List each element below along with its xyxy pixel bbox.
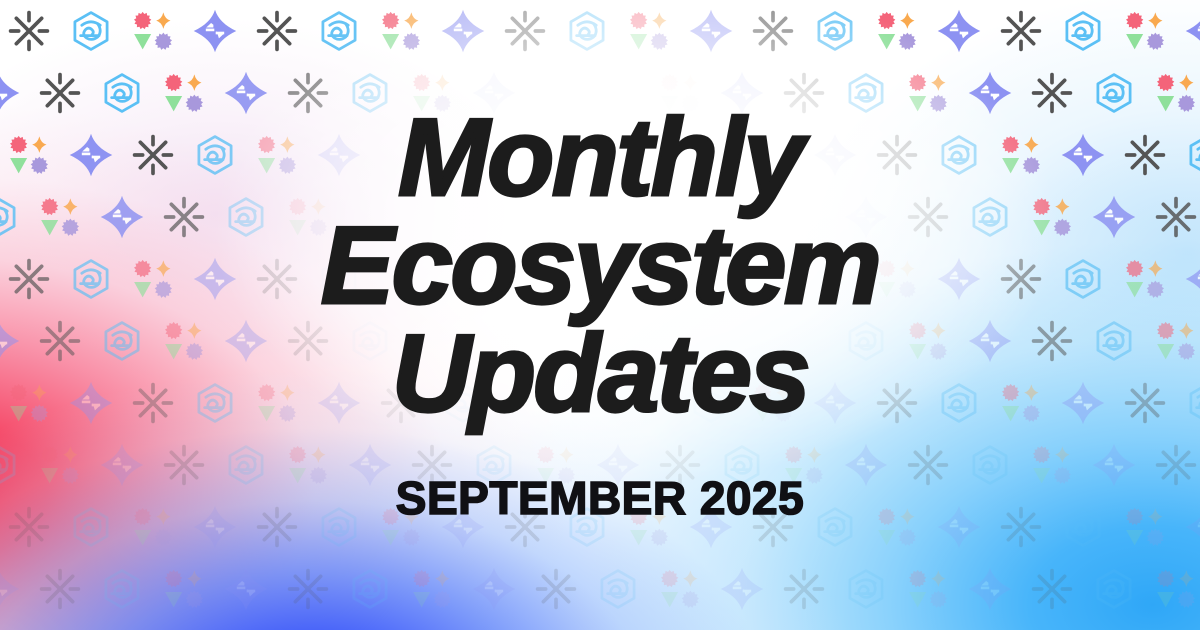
shape-cluster-icon (161, 566, 207, 612)
hexagon-spiral-icon (347, 318, 393, 364)
shape-cluster-icon (254, 380, 300, 426)
shape-cluster-icon (37, 194, 83, 240)
hexagon-spiral-icon (843, 566, 889, 612)
asterisk-burst-icon (657, 442, 703, 488)
diamond-exchange-icon (223, 70, 269, 116)
diamond-exchange-icon (967, 318, 1013, 364)
gradient-cyan-bloom (0, 0, 1200, 630)
gradient-red-bloom (0, 0, 1200, 630)
asterisk-burst-icon (905, 194, 951, 240)
asterisk-burst-icon (781, 566, 827, 612)
diamond-exchange-icon (1184, 256, 1200, 302)
diamond-exchange-icon (223, 566, 269, 612)
diamond-exchange-icon (192, 504, 238, 550)
asterisk-burst-icon (285, 566, 331, 612)
shape-cluster-icon (905, 70, 951, 116)
hexagon-spiral-icon (1091, 318, 1137, 364)
asterisk-burst-icon (1153, 442, 1199, 488)
asterisk-burst-icon (161, 442, 207, 488)
hexagon-spiral-icon (812, 504, 858, 550)
diamond-exchange-icon (936, 504, 982, 550)
shape-cluster-icon (533, 442, 579, 488)
asterisk-burst-icon (998, 256, 1044, 302)
page-title: Monthly Ecosystem Updates (280, 0, 920, 427)
asterisk-burst-icon (37, 70, 83, 116)
headline-white-veil (0, 0, 1200, 630)
asterisk-burst-icon (254, 256, 300, 302)
hexagon-spiral-icon (688, 380, 734, 426)
hexagon-spiral-icon (0, 194, 21, 240)
shape-cluster-icon (285, 442, 331, 488)
shape-cluster-icon (750, 380, 796, 426)
shape-cluster-icon (1029, 194, 1075, 240)
diamond-exchange-icon (1184, 504, 1200, 550)
diamond-exchange-icon (471, 70, 517, 116)
diamond-exchange-icon (99, 194, 145, 240)
asterisk-burst-icon (254, 504, 300, 550)
asterisk-burst-icon (254, 8, 300, 54)
shape-cluster-icon (781, 442, 827, 488)
asterisk-burst-icon (37, 318, 83, 364)
diamond-exchange-icon (347, 442, 393, 488)
hexagon-spiral-icon (812, 8, 858, 54)
hexagon-spiral-icon (440, 380, 486, 426)
hexagon-spiral-icon (223, 194, 269, 240)
shape-cluster-icon (161, 318, 207, 364)
asterisk-burst-icon (37, 566, 83, 612)
asterisk-burst-icon (750, 504, 796, 550)
asterisk-burst-icon (161, 194, 207, 240)
shape-cluster-icon (657, 566, 703, 612)
diamond-exchange-icon (192, 8, 238, 54)
shape-cluster-icon (6, 132, 52, 178)
shape-cluster-icon (874, 256, 920, 302)
shape-cluster-icon (130, 256, 176, 302)
hexagon-spiral-icon (936, 132, 982, 178)
hexagon-spiral-icon (347, 566, 393, 612)
diamond-exchange-icon (440, 8, 486, 54)
shape-cluster-icon (285, 194, 331, 240)
asterisk-burst-icon (1029, 70, 1075, 116)
hexagon-spiral-icon (192, 380, 238, 426)
diamond-exchange-icon (688, 504, 734, 550)
shape-cluster-icon (1153, 318, 1199, 364)
asterisk-burst-icon (6, 504, 52, 550)
diamond-exchange-icon (0, 70, 21, 116)
diamond-exchange-icon (595, 442, 641, 488)
shape-cluster-icon (1122, 504, 1168, 550)
diamond-exchange-icon (0, 318, 21, 364)
asterisk-burst-icon (130, 380, 176, 426)
diamond-exchange-icon (843, 194, 889, 240)
asterisk-burst-icon (378, 380, 424, 426)
shape-cluster-icon (626, 504, 672, 550)
shape-cluster-icon (874, 504, 920, 550)
asterisk-burst-icon (1122, 132, 1168, 178)
shape-cluster-icon (409, 70, 455, 116)
hexagon-spiral-icon (99, 318, 145, 364)
asterisk-burst-icon (285, 318, 331, 364)
shape-cluster-icon (905, 566, 951, 612)
gradient-sky-haze (0, 0, 1200, 630)
diamond-exchange-icon (967, 566, 1013, 612)
diamond-exchange-icon (812, 132, 858, 178)
diamond-exchange-icon (471, 566, 517, 612)
headline-block: Monthly Ecosystem Updates SEPTEMBER 2025 (0, 0, 1200, 630)
diamond-exchange-icon (719, 70, 765, 116)
diamond-exchange-icon (843, 442, 889, 488)
asterisk-burst-icon (6, 256, 52, 302)
hexagon-spiral-icon (936, 380, 982, 426)
shape-cluster-icon (998, 380, 1044, 426)
shape-cluster-icon (657, 70, 703, 116)
asterisk-burst-icon (533, 566, 579, 612)
asterisk-burst-icon (130, 132, 176, 178)
diamond-exchange-icon (1091, 194, 1137, 240)
shape-cluster-icon (37, 442, 83, 488)
asterisk-burst-icon (6, 8, 52, 54)
hexagon-spiral-icon (1060, 256, 1106, 302)
asterisk-burst-icon (1122, 380, 1168, 426)
shape-cluster-icon (1029, 442, 1075, 488)
asterisk-burst-icon (750, 8, 796, 54)
title-line-2: Ecosystem (280, 212, 920, 320)
title-line-1: Monthly (280, 104, 920, 212)
diamond-exchange-icon (1060, 132, 1106, 178)
asterisk-burst-icon (1153, 194, 1199, 240)
shape-cluster-icon (874, 8, 920, 54)
diamond-exchange-icon (688, 8, 734, 54)
shape-cluster-icon (378, 8, 424, 54)
hexagon-spiral-icon (564, 8, 610, 54)
hexagon-spiral-icon (471, 442, 517, 488)
asterisk-burst-icon (781, 70, 827, 116)
asterisk-burst-icon (502, 8, 548, 54)
asterisk-burst-icon (874, 132, 920, 178)
hexagon-spiral-icon (967, 194, 1013, 240)
shape-cluster-icon (626, 8, 672, 54)
asterisk-burst-icon (998, 504, 1044, 550)
page-subtitle: SEPTEMBER 2025 (396, 427, 804, 525)
shape-cluster-icon (1122, 8, 1168, 54)
asterisk-burst-icon (1029, 318, 1075, 364)
hexagon-spiral-icon (1060, 504, 1106, 550)
hexagon-spiral-icon (316, 504, 362, 550)
diamond-exchange-icon (68, 132, 114, 178)
shape-cluster-icon (1153, 566, 1199, 612)
hexagon-spiral-icon (316, 256, 362, 302)
hexagon-spiral-icon (843, 70, 889, 116)
hexagon-spiral-icon (347, 70, 393, 116)
gradient-blue-bloom (0, 0, 1200, 630)
diamond-exchange-icon (1060, 380, 1106, 426)
decorative-icon-pattern (0, 0, 1200, 630)
hexagon-spiral-icon (316, 8, 362, 54)
background-base (0, 0, 1200, 630)
hexagon-spiral-icon (68, 8, 114, 54)
shape-cluster-icon (130, 504, 176, 550)
hexagon-spiral-icon (0, 442, 21, 488)
asterisk-burst-icon (905, 442, 951, 488)
diamond-exchange-icon (99, 442, 145, 488)
asterisk-burst-icon (409, 442, 455, 488)
shape-cluster-icon (1122, 256, 1168, 302)
hexagon-spiral-icon (99, 566, 145, 612)
diamond-exchange-icon (1184, 8, 1200, 54)
diamond-exchange-icon (1091, 442, 1137, 488)
shape-cluster-icon (998, 132, 1044, 178)
diamond-exchange-icon (223, 318, 269, 364)
hexagon-spiral-icon (1091, 566, 1137, 612)
hexagon-spiral-icon (967, 442, 1013, 488)
diamond-exchange-icon (440, 504, 486, 550)
hexagon-spiral-icon (595, 566, 641, 612)
shape-cluster-icon (254, 132, 300, 178)
asterisk-burst-icon (874, 380, 920, 426)
hexagon-spiral-icon (99, 70, 145, 116)
diamond-exchange-icon (316, 380, 362, 426)
hexagon-spiral-icon (1091, 70, 1137, 116)
diamond-exchange-icon (68, 380, 114, 426)
asterisk-burst-icon (285, 70, 331, 116)
hexagon-spiral-icon (223, 442, 269, 488)
gradient-lilac-haze (0, 0, 1200, 630)
shape-cluster-icon (1153, 70, 1199, 116)
hexagon-spiral-icon (1184, 132, 1200, 178)
hexagon-spiral-icon (68, 504, 114, 550)
asterisk-burst-icon (502, 504, 548, 550)
hexagon-spiral-icon (719, 442, 765, 488)
hexagon-spiral-icon (843, 318, 889, 364)
shape-cluster-icon (905, 318, 951, 364)
shape-cluster-icon (161, 70, 207, 116)
shape-cluster-icon (409, 566, 455, 612)
hexagon-spiral-icon (192, 132, 238, 178)
title-line-3: Updates (280, 320, 920, 428)
hexagon-spiral-icon (1060, 8, 1106, 54)
diamond-exchange-icon (967, 70, 1013, 116)
diamond-exchange-icon (0, 566, 21, 612)
diamond-exchange-icon (936, 8, 982, 54)
shape-cluster-icon (378, 504, 424, 550)
diamond-exchange-icon (719, 566, 765, 612)
hexagon-spiral-icon (1184, 380, 1200, 426)
diamond-exchange-icon (316, 132, 362, 178)
shape-cluster-icon (6, 380, 52, 426)
shape-cluster-icon (130, 8, 176, 54)
hexagon-spiral-icon (68, 256, 114, 302)
diamond-exchange-icon (192, 256, 238, 302)
asterisk-burst-icon (1029, 566, 1075, 612)
hexagon-spiral-icon (564, 504, 610, 550)
ecosystem-updates-banner: Monthly Ecosystem Updates SEPTEMBER 2025 (0, 0, 1200, 630)
diamond-exchange-icon (936, 256, 982, 302)
asterisk-burst-icon (998, 8, 1044, 54)
diamond-exchange-icon (812, 380, 858, 426)
